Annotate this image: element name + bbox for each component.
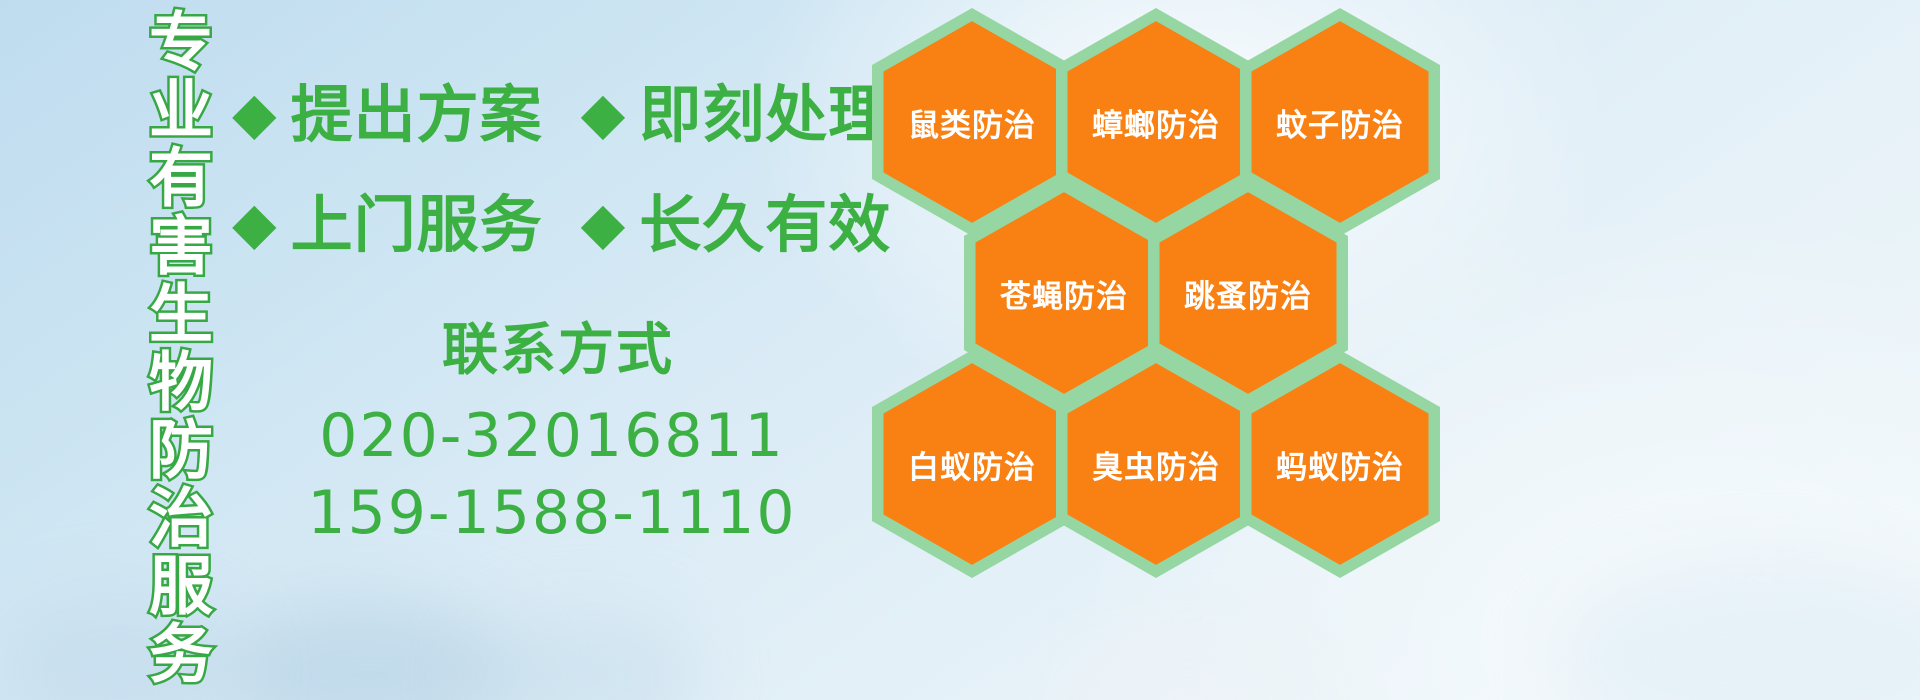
hex-cell-bedbug-control[interactable]: 臭虫防治	[1056, 350, 1256, 578]
feature-item-propose-plan: ◆ 提出方案	[232, 84, 543, 146]
vertical-headline: 专业有害生物防治服务	[112, 8, 208, 698]
hex-label: 臭虫防治	[1056, 350, 1256, 578]
feature-item-immediate-handling: ◆ 即刻处理	[581, 84, 892, 146]
phone-number-landline[interactable]: 020-32016811	[232, 398, 872, 475]
diamond-icon: ◆	[581, 84, 626, 142]
feature-label: 上门服务	[291, 194, 543, 256]
hex-cell-ant-control[interactable]: 蚂蚁防治	[1240, 350, 1440, 578]
hex-cell-termite-control[interactable]: 白蚁防治	[872, 350, 1072, 578]
feature-item-long-lasting-effect: ◆ 长久有效	[581, 194, 892, 256]
feature-row-first: ◆ 提出方案 ◆ 即刻处理	[232, 84, 891, 146]
feature-row-second: ◆ 上门服务 ◆ 长久有效	[232, 194, 891, 256]
contact-heading: 联系方式	[244, 318, 872, 384]
pest-control-service-banner: 专业有害生物防治服务 ◆ 提出方案 ◆ 即刻处理 ◆ 上门服务 ◆ 长久有效 联…	[0, 0, 1920, 700]
feature-label: 长久有效	[639, 194, 891, 256]
feature-label: 即刻处理	[639, 84, 891, 146]
feature-item-door-to-door-service: ◆ 上门服务	[232, 194, 543, 256]
diamond-icon: ◆	[232, 84, 277, 142]
phone-number-mobile[interactable]: 159-1588-1110	[232, 475, 872, 552]
contact-block: 联系方式 020-32016811 159-1588-1110	[232, 318, 872, 552]
hex-label: 白蚁防治	[872, 350, 1072, 578]
hex-label: 蚂蚁防治	[1240, 350, 1440, 578]
background-blur-blob	[220, 600, 520, 700]
feature-label: 提出方案	[291, 84, 543, 146]
diamond-icon: ◆	[581, 194, 626, 252]
diamond-icon: ◆	[232, 194, 277, 252]
background-blur-blob	[470, 612, 700, 700]
service-honeycomb: 鼠类防治 蟑螂防治 蚊子防治 苍蝇防治 跳蚤防治 白蚁防治	[860, 0, 1480, 700]
background-blur-blob	[1560, 560, 1920, 700]
